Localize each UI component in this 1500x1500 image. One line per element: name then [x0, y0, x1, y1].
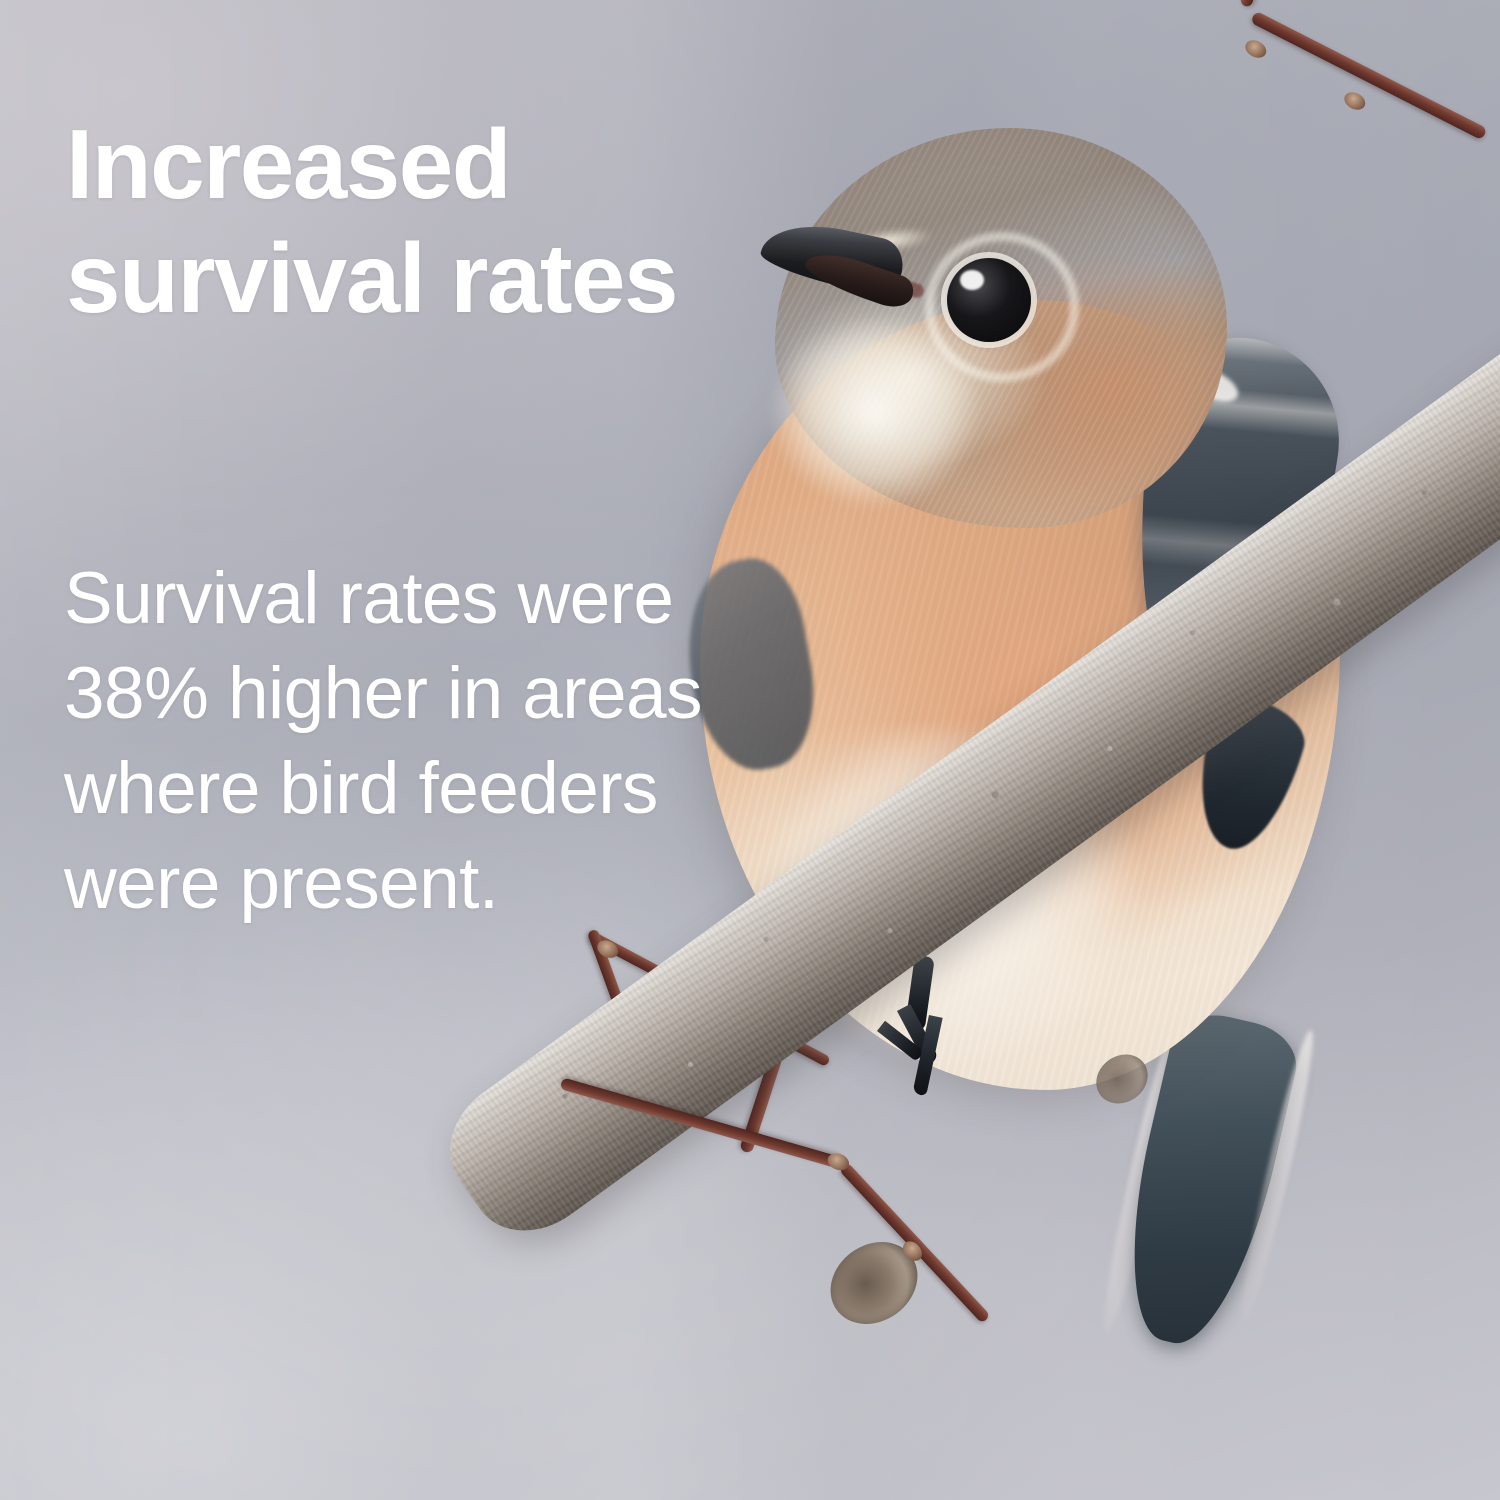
- body-statistic-text: Survival rates were 38% higher in areas …: [64, 552, 714, 932]
- page-title: Increased survival rates: [66, 108, 706, 335]
- bird-eye: [947, 258, 1031, 342]
- bird-foot: [885, 955, 975, 1105]
- bird-eye-glint: [960, 270, 984, 290]
- infographic-card: Increased survival rates Survival rates …: [0, 0, 1500, 1500]
